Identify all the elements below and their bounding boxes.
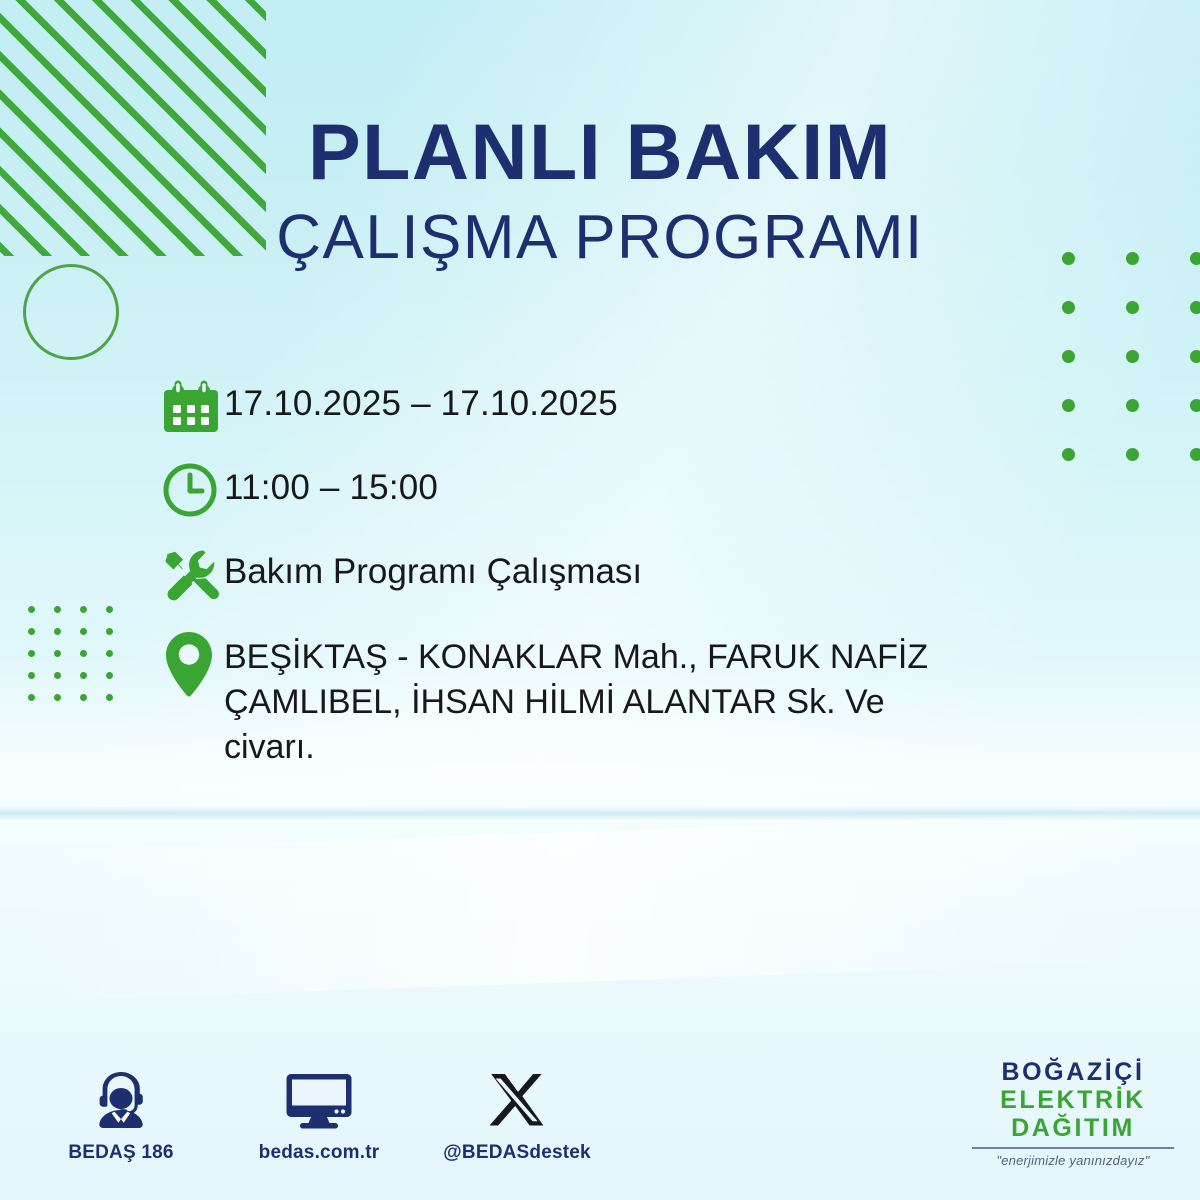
monitor-icon — [286, 1068, 352, 1130]
page-title: PLANLI BAKIM — [0, 112, 1200, 191]
page-title-block: PLANLI BAKIM ÇALIŞMA PROGRAMI — [0, 112, 1200, 269]
detail-row-time: 11:00 – 15:00 — [162, 462, 1062, 524]
contact-website-label: bedas.com.tr — [259, 1142, 380, 1164]
contact-website[interactable]: bedas.com.tr — [244, 1068, 394, 1164]
detail-task-text: Bakım Programı Çalışması — [224, 546, 642, 594]
x-twitter-icon — [489, 1068, 545, 1130]
detail-row-date: 17.10.2025 – 17.10.2025 — [162, 378, 1062, 440]
detail-row-task: Bakım Programı Çalışması — [162, 546, 1062, 608]
clock-icon — [162, 462, 224, 524]
page-subtitle: ÇALIŞMA PROGRAMI — [0, 207, 1200, 269]
contact-x-account[interactable]: @BEDASdestek — [442, 1068, 592, 1164]
tools-icon — [162, 546, 224, 608]
brand-line-dagitim: DAĞITIM — [966, 1114, 1180, 1142]
support-agent-icon — [90, 1068, 152, 1130]
detail-row-address: BEŞİKTAŞ - KONAKLAR Mah., FARUK NAFİZ ÇA… — [162, 630, 1062, 771]
poster-canvas: PLANLI BAKIM ÇALIŞMA PROGRAMI — [0, 0, 1200, 1200]
contact-call-center[interactable]: BEDAŞ 186 — [46, 1068, 196, 1164]
calendar-icon — [162, 378, 224, 440]
brand-line-elektrik: ELEKTRİK — [966, 1086, 1180, 1114]
brand-divider — [972, 1147, 1174, 1149]
contact-x-label: @BEDASdestek — [443, 1142, 591, 1164]
contact-channels: BEDAŞ 186 bedas.com.tr — [46, 1068, 592, 1164]
detail-time-text: 11:00 – 15:00 — [224, 462, 438, 510]
brand-tagline: "enerjimizle yanınızdayız" — [966, 1153, 1180, 1168]
detail-address-text: BEŞİKTAŞ - KONAKLAR Mah., FARUK NAFİZ ÇA… — [224, 630, 984, 771]
location-pin-icon — [162, 630, 224, 692]
detail-date-text: 17.10.2025 – 17.10.2025 — [224, 378, 618, 426]
brand-line-bogazici: BOĞAZİÇİ — [966, 1058, 1180, 1086]
brand-logo: BOĞAZİÇİ ELEKTRİK DAĞITIM "enerjimizle y… — [966, 1058, 1180, 1168]
outage-details-list: 17.10.2025 – 17.10.2025 11:00 – 15:00 — [162, 378, 1062, 793]
contact-call-center-label: BEDAŞ 186 — [68, 1142, 173, 1164]
